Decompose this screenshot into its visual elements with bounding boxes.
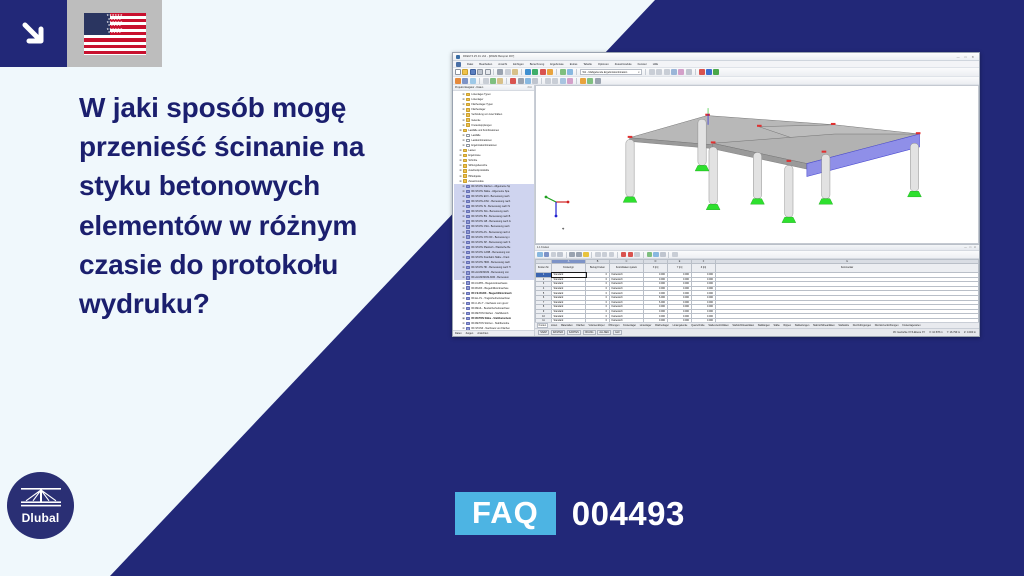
results-icon[interactable] xyxy=(547,69,553,75)
table-tab[interactable]: Volumenkörper xyxy=(588,324,605,327)
menu-item-tabelle[interactable]: Tabelle xyxy=(583,63,592,66)
menu-item-fenster[interactable]: Fenster xyxy=(638,63,647,66)
tree-item-label: Lastkombinationen xyxy=(471,139,491,142)
status-toggle[interactable]: RASTER xyxy=(551,330,566,335)
tree-expander-icon[interactable]: ⊞ xyxy=(462,210,465,213)
page-icon xyxy=(466,144,470,147)
tree-item-label: RF-STAHL AS - Bemessung nach A xyxy=(471,231,510,234)
table-tab[interactable]: Stäbe xyxy=(773,324,780,327)
table-tab[interactable]: Stabnichtlinearitäten xyxy=(732,324,755,327)
menu-item-datei[interactable]: Datei xyxy=(467,63,473,66)
menu-item-ansicht[interactable]: Ansicht xyxy=(498,63,507,66)
table-edit-icon[interactable] xyxy=(544,252,550,258)
table-next-icon[interactable] xyxy=(628,252,634,258)
tree-item-label: Stiftungsbereiche xyxy=(468,164,487,167)
zoom-in-icon[interactable] xyxy=(649,69,655,75)
tree-item-label: RF-BETON Flächen - Stahlbetonb xyxy=(471,312,508,315)
menu-item-optionen[interactable]: Optionen xyxy=(598,63,609,66)
module-icon xyxy=(466,241,470,244)
brand-header: ★★★★★★ ★★★★★ ★★★★★★ ★★★★★ ★★★★★★ ★★★★★ xyxy=(0,0,162,67)
toolbar-separator xyxy=(566,252,567,258)
minimize-button[interactable]: — xyxy=(957,55,960,59)
tree-expander-icon[interactable]: ⊞ xyxy=(462,292,465,295)
tree-expander-icon[interactable]: ⊞ xyxy=(462,225,465,228)
tree-expander-icon[interactable]: ⊞ xyxy=(462,266,465,269)
toolbar-separator xyxy=(479,78,480,84)
dlubal-logo-text: Dlubal xyxy=(22,511,60,525)
color-red-icon[interactable] xyxy=(699,69,705,75)
tree-expander-icon[interactable]: ⊞ xyxy=(459,129,462,132)
status-readout: 45: Gedrehte XYZ-Ebene XY xyxy=(893,331,925,334)
tree-item-label: Ausdruckprotokolle xyxy=(468,169,489,172)
navigator-tab-daten[interactable]: Daten xyxy=(455,332,462,335)
chevron-down-icon[interactable]: ▾ xyxy=(638,71,639,74)
table-tab[interactable]: Querschnitte xyxy=(690,324,705,327)
folder-icon xyxy=(463,129,467,132)
zoom-out-icon[interactable] xyxy=(656,69,662,75)
tree-expander-icon[interactable]: ⊞ xyxy=(462,205,465,208)
mesh-tool-icon[interactable] xyxy=(518,78,524,84)
tree-expander-icon[interactable]: ⊞ xyxy=(462,246,465,249)
settings-icon[interactable] xyxy=(595,78,601,84)
tree-item-label: RF-EL-PL - Tragsicherheitsnachwei xyxy=(471,297,509,300)
tree-expander-icon[interactable]: ⊞ xyxy=(462,271,465,274)
tree-expander-icon[interactable]: ⊞ xyxy=(459,175,462,178)
line-tool-icon[interactable] xyxy=(462,78,468,84)
column-header[interactable]: Knoten Nr. xyxy=(536,264,552,273)
tree-expander-icon[interactable]: ⊞ xyxy=(462,93,465,96)
tree-expander-icon[interactable]: ⊞ xyxy=(462,108,465,111)
tree-item-label: RF-STAHL BS - Bemessung nach B xyxy=(471,215,510,218)
deform-tool-icon[interactable] xyxy=(525,78,531,84)
page-icon xyxy=(466,139,470,142)
table-stop-icon[interactable] xyxy=(634,252,640,258)
tree-expander-icon[interactable]: ⊞ xyxy=(462,236,465,239)
grid-icon[interactable] xyxy=(686,69,692,75)
status-toggle[interactable]: GLF xyxy=(613,330,622,335)
table-tab[interactable]: Stabsätze xyxy=(838,324,850,327)
tree-expander-icon[interactable]: ⊞ xyxy=(462,113,465,116)
module-icon xyxy=(466,246,470,249)
table-tab[interactable]: Stabnichtlinearitäten xyxy=(812,324,835,327)
tree-item-label: RF-STAHL HK - Bemessung nach H xyxy=(471,266,510,269)
tree-expander-icon[interactable]: ⊞ xyxy=(462,98,465,101)
surface-tool-icon[interactable] xyxy=(470,78,476,84)
project-navigator: Projekt-Navigator - Daten ⊡✕ ⊞Linienlage… xyxy=(453,85,535,336)
results-table-panel: 1.1 Knoten — □ ✕ xyxy=(535,244,979,328)
load-case-combo[interactable]: W1 - Maßgebende Ergebniskombination ▾ xyxy=(580,69,642,75)
tree-item-label: RF-STAHL SP - Bemessung nach S xyxy=(471,241,510,244)
module-icon xyxy=(466,251,470,254)
right-pane: ⌖ 1.1 Knoten — □ ✕ xyxy=(535,85,979,336)
table-tab[interactable]: Flächenlager xyxy=(655,324,670,327)
tree-item-label: RF-FE-BGDK - Biegedrillknicknach xyxy=(471,292,511,295)
table-delete-icon[interactable] xyxy=(551,252,557,258)
toolbar-separator xyxy=(541,78,542,84)
column-header-row: Knoten Nr.KnotentypBezug KnotenKoordinat… xyxy=(536,264,979,273)
toolbar-separator xyxy=(668,252,669,258)
navigator-tab-ansichten[interactable]: Ansichten xyxy=(477,332,488,335)
tree-expander-icon[interactable]: ⊞ xyxy=(459,154,462,157)
toolbar-separator xyxy=(576,78,577,84)
module-icon xyxy=(466,302,470,305)
tree-item-label: RF-STAHL SIA - Bemessung nach xyxy=(471,210,508,213)
tree-item-label: Linienlager xyxy=(471,98,483,101)
module-icon xyxy=(466,261,470,264)
tree-expander-icon[interactable]: ⊞ xyxy=(459,180,462,183)
table-tab[interactable]: Linien xyxy=(550,324,558,327)
column-header[interactable]: Bezug Knoten xyxy=(586,264,610,273)
folder-icon xyxy=(466,98,470,101)
column-header[interactable]: X [m] xyxy=(644,264,668,273)
table-settings-icon[interactable] xyxy=(660,252,666,258)
table-tab[interactable]: Stabexzentrizitäten xyxy=(708,324,730,327)
status-readout: Y: 16.799 m xyxy=(947,331,960,334)
status-coordinates: 45: Gedrehte XYZ-Ebene XYX: 10.578 mY: 1… xyxy=(893,331,976,334)
module-icon xyxy=(466,185,470,188)
undo-icon[interactable] xyxy=(525,69,531,75)
tree-expander-icon[interactable]: ⊞ xyxy=(462,200,465,203)
tree-expander-icon[interactable]: ⊞ xyxy=(462,185,465,188)
tree-item-label: RF-STAHL EC3 - Bemessung nach xyxy=(471,195,509,198)
toolbar-separator xyxy=(521,69,522,75)
table-body: 1Standard0Kartesisch0.0000.0000.0002Stan… xyxy=(536,273,979,322)
tree-item-label: Schnitte xyxy=(468,159,477,162)
tree-expander-icon[interactable]: ⊞ xyxy=(462,134,465,137)
us-flag-icon: ★★★★★★ ★★★★★ ★★★★★★ ★★★★★ ★★★★★★ ★★★★★ xyxy=(67,0,162,67)
toolbar-separator xyxy=(695,69,696,75)
tree-item-label: RF-STAHL Plastisch - Plastische Be xyxy=(471,246,510,249)
structural-model-3d xyxy=(536,86,978,243)
tree-expander-icon[interactable]: ⊞ xyxy=(462,190,465,193)
table-tab[interactable]: Durchdringungen xyxy=(852,324,872,327)
menu-bar[interactable]: Datei Bearbeiten Ansicht Einfügen Berech… xyxy=(453,61,979,68)
module-icon xyxy=(466,281,470,284)
folder-icon xyxy=(463,154,467,157)
maximize-button[interactable]: □ xyxy=(965,55,967,59)
rfem-application-window: RFEM 5.25.01 x64 - [RFEM Beispiel 007] —… xyxy=(452,52,980,337)
title-bar: RFEM 5.25.01 x64 - [RFEM Beispiel 007] —… xyxy=(453,53,979,61)
section-tool-icon[interactable] xyxy=(532,78,538,84)
color-blue-icon[interactable] xyxy=(706,69,712,75)
tree-expander-icon[interactable]: ⊞ xyxy=(459,169,462,172)
calculate-icon[interactable] xyxy=(540,69,546,75)
tree-expander-icon[interactable]: ⊞ xyxy=(462,124,465,127)
table-tab[interactable]: Linienlager xyxy=(639,324,652,327)
table-tab[interactable]: Rippen xyxy=(783,324,792,327)
view-top-icon[interactable] xyxy=(552,78,558,84)
column-header[interactable]: Y [m] xyxy=(668,264,692,273)
window-controls[interactable]: — □ ✕ xyxy=(957,55,976,59)
rotate-icon[interactable] xyxy=(671,69,677,75)
table-print-icon[interactable] xyxy=(557,252,563,258)
window-title: RFEM 5.25.01 x64 - [RFEM Beispiel 007] xyxy=(463,55,514,58)
toolbar-separator xyxy=(493,69,494,75)
module-icon xyxy=(466,292,470,295)
status-readout: Z: 0.000 m xyxy=(964,331,976,334)
tree-item-label: Ergebnisse xyxy=(468,154,480,157)
folder-icon xyxy=(463,179,467,182)
pan-icon[interactable] xyxy=(664,69,670,75)
table-find-icon[interactable] xyxy=(602,252,608,258)
status-readout: X: 10.578 m xyxy=(929,331,942,334)
tree-expander-icon[interactable]: ⊞ xyxy=(462,282,465,285)
dlubal-truss-icon xyxy=(20,487,62,509)
mouse-cursor-icon: ⌖ xyxy=(562,226,564,231)
module-icon xyxy=(466,190,470,193)
table-filter-icon[interactable] xyxy=(595,252,601,258)
status-toggle[interactable]: SNAP xyxy=(538,330,549,335)
module-icon xyxy=(466,225,470,228)
tree-item-label: Ergebniskombinationen xyxy=(471,144,496,147)
table-tab[interactable]: Stablängen xyxy=(757,324,770,327)
tree-expander-icon[interactable]: ⊞ xyxy=(462,297,465,300)
view-iso-icon[interactable] xyxy=(560,78,566,84)
tree-item-label: Zusatzmodule xyxy=(468,180,483,183)
visibility-icon[interactable] xyxy=(587,78,593,84)
tree-expander-icon[interactable]: ⊞ xyxy=(462,139,465,142)
tree-expander-icon[interactable]: ⊞ xyxy=(462,103,465,106)
open-icon[interactable] xyxy=(462,69,468,75)
axis-triad-icon xyxy=(544,194,570,221)
arrow-down-right-icon xyxy=(0,0,67,67)
module-icon xyxy=(466,297,470,300)
redo-icon[interactable] xyxy=(532,69,538,75)
navigator-tabs[interactable]: Daten Zeigen Ansichten xyxy=(453,330,534,337)
tree-expander-icon[interactable]: ⊞ xyxy=(462,231,465,234)
tree-item-label: RF-STAHL Kranbahn Stäbe - Krant xyxy=(471,256,509,259)
tree-item-label: Gelenke xyxy=(471,119,480,122)
menu-item-ergebnisse[interactable]: Ergebnisse xyxy=(550,63,563,66)
close-button[interactable]: ✕ xyxy=(971,55,974,59)
toolbar-separator xyxy=(591,252,592,258)
hinge-tool-icon[interactable] xyxy=(497,78,503,84)
tree-expander-icon[interactable]: ⊞ xyxy=(459,164,462,167)
save-icon[interactable] xyxy=(470,69,476,75)
tree-expander-icon[interactable]: ⊞ xyxy=(462,276,465,279)
tree-item-label: RF-ALUMINIUM - Bemessung von xyxy=(471,271,508,274)
tree-item-label: RF-STAHL Flächen - Allgemeine Sp xyxy=(471,185,510,188)
module-icon xyxy=(466,230,470,233)
status-toggle-group[interactable]: SNAPRASTERKARTESOFANGALLNEUGLF xyxy=(538,330,622,335)
paste-icon[interactable] xyxy=(512,69,518,75)
table-calc-icon[interactable] xyxy=(647,252,653,258)
toolbar-separator xyxy=(643,252,644,258)
table-sort-asc-icon[interactable] xyxy=(569,252,575,258)
tree-item-label: RF-STAHL NTC DF - Bemessung n xyxy=(471,236,509,239)
tree-item-label: RF-STAHL HDR - Bemessung nach xyxy=(471,261,510,264)
workspace: Projekt-Navigator - Daten ⊡✕ ⊞Linienlage… xyxy=(453,85,979,336)
tree-expander-icon[interactable]: ⊞ xyxy=(462,195,465,198)
column-header[interactable]: Z [m] xyxy=(692,264,716,273)
table-tab[interactable]: Knotenlagerarten xyxy=(902,324,922,327)
tree-expander-icon[interactable]: ⊞ xyxy=(462,322,465,325)
status-toggle[interactable]: OFANG xyxy=(583,330,596,335)
tree-expander-icon[interactable]: ⊞ xyxy=(459,149,462,152)
toolbar-separator xyxy=(617,252,618,258)
tree-expander-icon[interactable]: ⊞ xyxy=(462,215,465,218)
tree-expander-icon[interactable]: ⊞ xyxy=(462,317,465,320)
load-tool-icon[interactable] xyxy=(510,78,516,84)
copy-icon[interactable] xyxy=(505,69,511,75)
new-icon[interactable] xyxy=(455,69,461,75)
tree-item-label: Verbindung von zwei Stäben xyxy=(471,113,502,116)
navigator-title: Projekt-Navigator - Daten xyxy=(455,86,483,89)
tree-item-label: Linienlager-Typen xyxy=(471,93,490,96)
table-icon[interactable] xyxy=(560,69,566,75)
folder-icon xyxy=(466,93,470,96)
table-tab[interactable]: Knotenlager xyxy=(623,324,637,327)
nodes-table[interactable]: ABCDEFG Knoten Nr.KnotentypBezug KnotenK… xyxy=(535,259,979,322)
flag-graphic: ★★★★★★ ★★★★★ ★★★★★★ ★★★★★ ★★★★★★ ★★★★★ xyxy=(84,13,146,55)
tree-expander-icon[interactable]: ⊞ xyxy=(462,302,465,305)
table-units-icon[interactable] xyxy=(653,252,659,258)
menu-item-berechnung[interactable]: Berechnung xyxy=(530,63,545,66)
table-panel-title: 1.1 Knoten xyxy=(537,246,549,249)
module-icon xyxy=(466,307,470,310)
tree-item-label: RF-STAHL IS - Bemessung nach IS xyxy=(471,205,510,208)
render-icon[interactable] xyxy=(678,69,684,75)
table-tab[interactable]: Stabteilungen xyxy=(794,324,810,327)
faq-badge: FAQ 004493 xyxy=(455,492,685,535)
page-title: W jaki sposób mogę przenieść ścinanie na… xyxy=(79,88,439,323)
folder-icon xyxy=(466,123,470,126)
view-front-icon[interactable] xyxy=(545,78,551,84)
column-header[interactable]: Knotentyp xyxy=(552,264,586,273)
module-icon xyxy=(466,235,470,238)
tree-item-label: RF-STAHL Stäbe - Allgemeine Spa xyxy=(471,190,509,193)
folder-icon xyxy=(463,159,467,162)
load-case-combo-value: W1 - Maßgebende Ergebniskombination xyxy=(583,71,628,74)
tree-expander-icon[interactable]: ⊞ xyxy=(462,256,465,259)
table-help-icon[interactable] xyxy=(672,252,678,258)
module-icon xyxy=(466,200,470,203)
table-sort-desc-icon[interactable] xyxy=(576,252,582,258)
tree-item-label: Lasten xyxy=(468,149,475,152)
tree-item-label: Flächenlager xyxy=(471,108,485,111)
tree-expander-icon[interactable]: ⊞ xyxy=(462,307,465,310)
tree-expander-icon[interactable]: ⊞ xyxy=(459,159,462,162)
tree-expander-icon[interactable]: ⊞ xyxy=(462,241,465,244)
table-tab[interactable]: FE-Netzverdichtungen xyxy=(874,324,899,327)
toolbar-separator xyxy=(506,78,507,84)
module-icon xyxy=(466,276,470,279)
toolbar-separator xyxy=(645,69,646,75)
node-tool-icon[interactable] xyxy=(455,78,461,84)
status-bar: SNAPRASTERKARTESOFANGALLNEUGLF 45: Gedre… xyxy=(535,328,979,336)
folder-icon xyxy=(466,118,470,121)
menu-item-zusatzmodule[interactable]: Zusatzmodule xyxy=(615,63,632,66)
panel-close-icon[interactable]: ⊡✕ xyxy=(528,86,532,89)
navigator-tree[interactable]: ⊞Linienlager-Typen⊞Linienlager⊞Flächenla… xyxy=(453,91,534,330)
tree-expander-icon[interactable]: ⊞ xyxy=(462,119,465,122)
table-panel-controls[interactable]: — □ ✕ xyxy=(964,246,977,249)
tree-expander-icon[interactable]: ⊞ xyxy=(462,251,465,254)
tree-item-label: RF-BGDK - Biegedrillknicknachwe xyxy=(471,287,508,290)
tree-item-label: RF-C-ZU-T - Nachweis vom grenz xyxy=(471,302,508,305)
menu-item-hilfe[interactable]: Hilfe xyxy=(653,63,658,66)
wireframe-icon[interactable] xyxy=(567,78,573,84)
report-icon[interactable] xyxy=(567,69,573,75)
tree-item-label: Flächenlager-Typen xyxy=(471,103,493,106)
cut-icon[interactable] xyxy=(497,69,503,75)
table-tab[interactable]: Öffnungen xyxy=(608,324,620,327)
tree-expander-icon[interactable]: ⊞ xyxy=(462,312,465,315)
menu-item-bearbeiten[interactable]: Bearbeiten xyxy=(479,63,492,66)
table-tab[interactable]: Materialien xyxy=(560,324,573,327)
module-icon xyxy=(466,205,470,208)
folder-icon xyxy=(463,149,467,152)
tree-expander-icon[interactable]: ⊞ xyxy=(462,287,465,290)
table-grid-wrapper[interactable]: ABCDEFG Knoten Nr.KnotentypBezug KnotenK… xyxy=(535,259,979,322)
module-icon xyxy=(466,286,470,289)
column-header[interactable]: Kommentar xyxy=(716,264,979,273)
table-export-icon[interactable] xyxy=(609,252,615,258)
tree-item-label: RF-STAHL AISC - Bemessung nach xyxy=(471,200,510,203)
menu-item-extras[interactable]: Extras xyxy=(570,63,578,66)
table-tab[interactable]: Knoten xyxy=(537,323,548,328)
secondary-toolbar[interactable] xyxy=(453,77,979,85)
member-tool-icon[interactable] xyxy=(483,78,489,84)
table-new-icon[interactable] xyxy=(537,252,543,258)
filter-icon[interactable] xyxy=(580,78,586,84)
tree-item-label: RF-KAPPA - Biegeknicknachweis xyxy=(471,282,507,285)
table-tab[interactable]: Liniengelenke xyxy=(672,324,688,327)
faq-label: FAQ xyxy=(455,492,556,535)
tree-item-label: RF-STAHL GJNB - Bemessung von xyxy=(471,251,509,254)
module-icon xyxy=(466,220,470,223)
menu-item-einfuegen[interactable]: Einfügen xyxy=(513,63,524,66)
table-toolbar[interactable] xyxy=(535,251,979,259)
module-icon xyxy=(466,312,470,315)
folder-icon xyxy=(463,169,467,172)
faq-number: 004493 xyxy=(572,497,685,530)
support-tool-icon[interactable] xyxy=(490,78,496,84)
module-icon xyxy=(466,215,470,218)
navigator-tab-zeigen[interactable]: Zeigen xyxy=(466,332,474,335)
module-icon xyxy=(466,210,470,213)
toolbar-separator xyxy=(576,69,577,75)
print-icon[interactable] xyxy=(477,69,483,75)
preview-icon[interactable] xyxy=(485,69,491,75)
status-toggle[interactable]: ALLNEU xyxy=(597,330,611,335)
color-green-icon[interactable] xyxy=(713,69,719,75)
tree-item-label: RF-ALUMINIUM ADM - Bemessun xyxy=(471,276,508,279)
dlubal-logo: Dlubal xyxy=(7,472,74,539)
folder-icon xyxy=(466,108,470,111)
toolbar-separator xyxy=(556,69,557,75)
table-prev-icon[interactable] xyxy=(621,252,627,258)
module-icon xyxy=(466,271,470,274)
tree-expander-icon[interactable]: ⊞ xyxy=(462,144,465,147)
model-viewport[interactable]: ⌖ xyxy=(535,85,979,244)
column-header[interactable]: Koordinaten system xyxy=(610,264,644,273)
tree-item-label: Lastfälle xyxy=(471,134,480,137)
table-tab[interactable]: Flächen xyxy=(576,324,586,327)
module-icon xyxy=(466,195,470,198)
main-toolbar[interactable]: W1 - Maßgebende Ergebniskombination ▾ xyxy=(453,68,979,77)
folder-icon xyxy=(466,113,470,116)
table-highlight-icon[interactable] xyxy=(583,252,589,258)
status-toggle[interactable]: KARTES xyxy=(567,330,581,335)
folder-icon xyxy=(463,174,467,177)
module-icon xyxy=(466,317,470,320)
module-icon xyxy=(466,266,470,269)
tree-expander-icon[interactable]: ⊞ xyxy=(462,261,465,264)
tree-item-label: RF-STAHL GB - Bemessung nach G xyxy=(471,220,510,223)
folder-icon xyxy=(463,164,467,167)
tree-expander-icon[interactable]: ⊞ xyxy=(462,220,465,223)
